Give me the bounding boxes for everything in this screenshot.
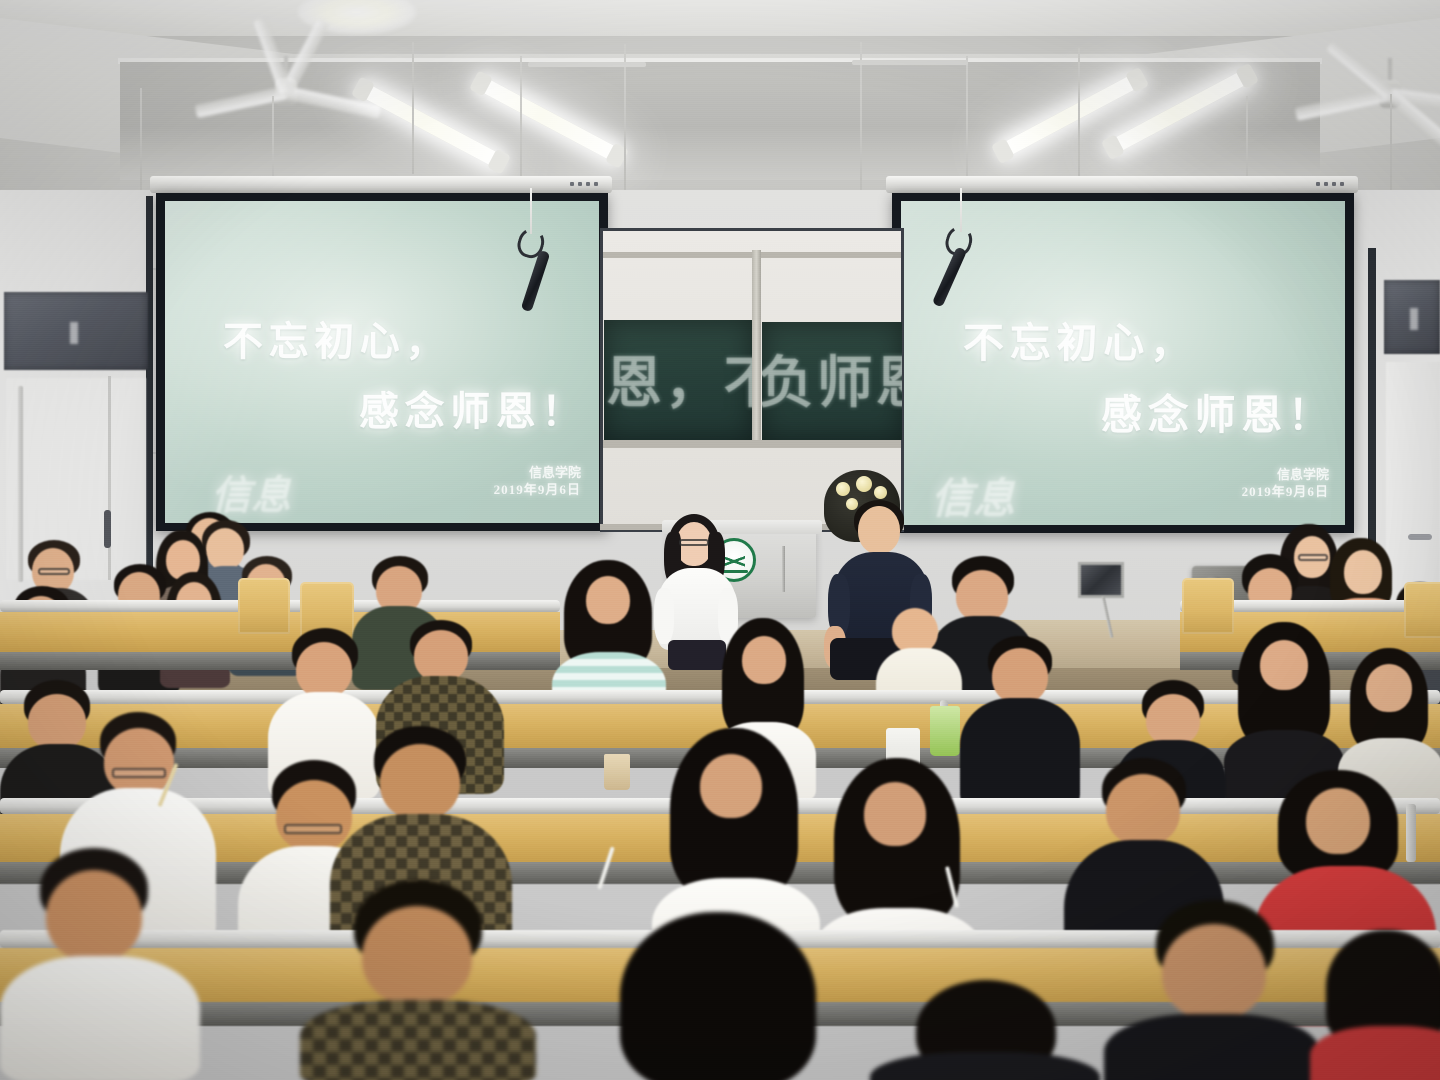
slide-line2: 感念师恩！ xyxy=(359,379,587,437)
blackboard-text-left: 恩，不 xyxy=(606,338,752,419)
blackboard-divider xyxy=(752,250,761,442)
blackboard-panel-left: 恩，不 xyxy=(604,320,752,440)
student xyxy=(1310,930,1440,1080)
wall-speaker-icon xyxy=(1078,562,1124,598)
right-transom-window xyxy=(1384,280,1440,354)
student xyxy=(0,848,200,1080)
slide-footer: 信息学院 2019年9月6日 xyxy=(1242,467,1329,500)
slide-org: 信息学院 xyxy=(1242,467,1329,484)
hanging-wire xyxy=(624,44,626,204)
slide-date: 2019年9月6日 xyxy=(494,482,581,499)
hanging-wire xyxy=(1078,48,1080,176)
slide-line2: 感念师恩！ xyxy=(1101,381,1335,441)
slide-date: 2019年9月6日 xyxy=(1242,484,1329,501)
ceiling-rail xyxy=(528,62,646,67)
cup xyxy=(604,754,630,790)
podium-microphone-stand xyxy=(782,546,785,592)
ceiling-fan-icon xyxy=(196,56,376,128)
seat-back xyxy=(238,578,290,634)
student xyxy=(1104,900,1320,1080)
hanging-wire xyxy=(1390,94,1392,198)
classroom-photo: 不忘初心， 感念师恩！ 信息学院 2019年9月6日 信息 不忘初心， 感念师恩… xyxy=(0,0,1440,1080)
seat-back xyxy=(1404,582,1440,638)
water-bottle xyxy=(930,706,960,756)
left-transom-window xyxy=(4,292,148,370)
ceiling-fan-icon xyxy=(1300,58,1440,130)
slide-line1: 不忘初心， xyxy=(223,309,451,367)
student xyxy=(570,912,870,1080)
left-door-jamb xyxy=(146,196,153,568)
student xyxy=(870,980,1100,1080)
glasses-icon xyxy=(679,539,709,546)
slide-watermark: 信息 xyxy=(931,465,1015,525)
student xyxy=(300,880,536,1080)
blackboard-panel-right: 负师恩 xyxy=(762,322,902,440)
hanging-wire xyxy=(412,42,414,174)
right-screen-roller[interactable] xyxy=(886,176,1358,193)
slide-line1: 不忘初心， xyxy=(963,309,1197,369)
hanging-wire xyxy=(140,88,142,196)
slide-footer: 信息学院 2019年9月6日 xyxy=(494,465,581,498)
left-screen-roller[interactable] xyxy=(150,176,612,193)
glasses-icon xyxy=(112,768,166,778)
right-door-handle[interactable] xyxy=(1408,534,1432,540)
slide-org: 信息学院 xyxy=(494,465,581,482)
blackboard-bottom-rail xyxy=(603,440,901,448)
head xyxy=(858,506,900,554)
blackboard-text-right: 负师恩 xyxy=(762,338,902,419)
left-door-handle[interactable] xyxy=(104,510,111,548)
hanging-wire xyxy=(860,42,862,204)
ceiling-rail xyxy=(852,60,968,65)
